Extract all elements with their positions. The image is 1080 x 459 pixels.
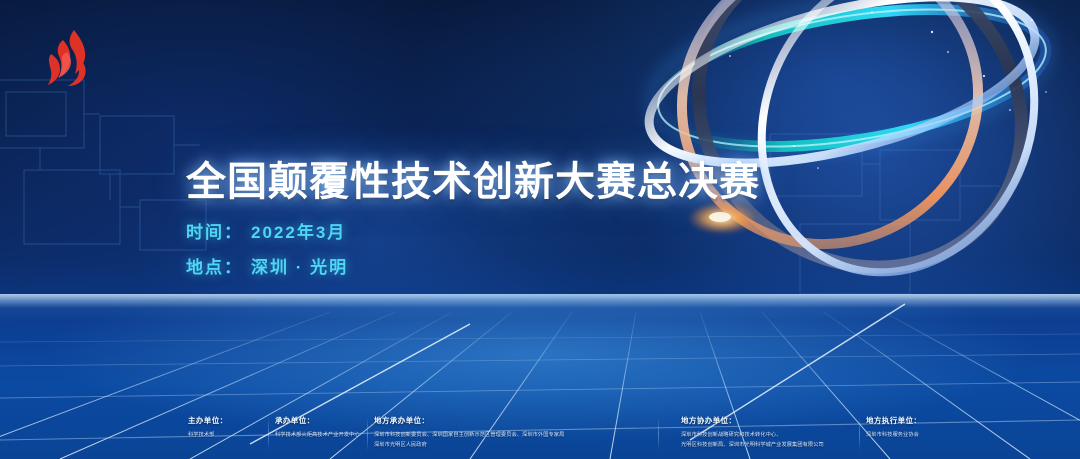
page-title: 全国颠覆性技术创新大赛总决赛 <box>186 160 760 204</box>
event-poster: 全国颠覆性技术创新大赛总决赛 时间：2022年3月 地点：深圳 · 光明 <box>0 0 1080 459</box>
credit-line: 深圳市科技服务业协会 <box>866 431 980 441</box>
credit-body: 深圳市科技创新委员会、深圳国家自主创新示范区管理委员会、深圳市外国专家局 深圳市… <box>374 431 652 450</box>
credit-heading: 主办单位： <box>188 415 262 426</box>
title-block: 全国颠覆性技术创新大赛总决赛 时间：2022年3月 地点：深圳 · 光明 <box>186 160 760 278</box>
event-time-value: 2022年3月 <box>251 223 346 242</box>
credit-column-local-executor: 地方执行单位： 深圳市科技服务业协会 <box>860 415 986 441</box>
credit-column-undertaker: 承办单位： 科学技术部火炬高技术产业开发中心 <box>269 415 367 441</box>
event-location-label: 地点： <box>186 258 243 277</box>
credits-bar: 主办单位： 科学技术部 承办单位： 科学技术部火炬高技术产业开发中心 地方承办单… <box>0 415 1080 451</box>
credit-body: 科学技术部火炬高技术产业开发中心 <box>275 431 361 441</box>
credit-column-local-coorganizer: 地方协办单位： 深圳市科技创新战略研究和技术转化中心、 光明区科技创新局、深圳市… <box>675 415 859 450</box>
credit-column-organizer: 主办单位： 科学技术部 <box>182 415 268 441</box>
credit-heading: 地方执行单位： <box>866 415 980 426</box>
credit-body: 科学技术部 <box>188 431 262 441</box>
credit-line: 科学技术部 <box>188 431 262 441</box>
credit-heading: 承办单位： <box>275 415 361 426</box>
credit-column-local-undertaker: 地方承办单位： 深圳市科技创新委员会、深圳国家自主创新示范区管理委员会、深圳市外… <box>368 415 658 450</box>
credit-body: 深圳市科技创新战略研究和技术转化中心、 光明区科技创新局、深圳市光明科学城产业发… <box>681 431 853 450</box>
credit-heading: 地方协办单位： <box>681 415 853 426</box>
credits-divider <box>658 417 659 451</box>
event-time-label: 时间： <box>186 223 243 242</box>
credit-line: 深圳市科技创新委员会、深圳国家自主创新示范区管理委员会、深圳市外国专家局 <box>374 431 652 441</box>
credit-line: 光明区科技创新局、深圳市光明科学城产业发展集团有限公司 <box>681 441 853 451</box>
credit-line: 科学技术部火炬高技术产业开发中心 <box>275 431 361 441</box>
event-location-value: 深圳 · 光明 <box>251 258 348 277</box>
event-location-row: 地点：深圳 · 光明 <box>186 253 760 278</box>
credit-line: 深圳市科技创新战略研究和技术转化中心、 <box>681 431 853 441</box>
credit-body: 深圳市科技服务业协会 <box>866 431 980 441</box>
torch-flame-emblem-icon <box>40 28 98 90</box>
event-time-row: 时间：2022年3月 <box>186 218 760 243</box>
credit-heading: 地方承办单位： <box>374 415 652 426</box>
credit-line: 深圳市光明区人民政府 <box>374 441 652 451</box>
